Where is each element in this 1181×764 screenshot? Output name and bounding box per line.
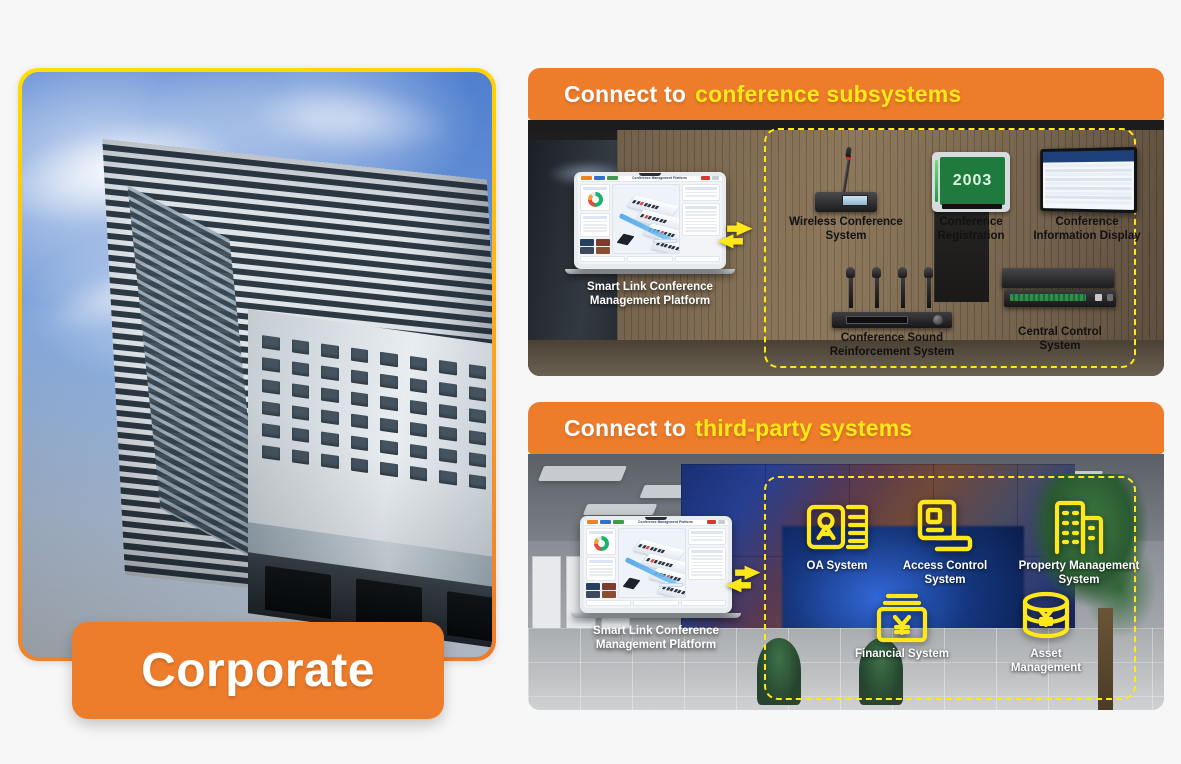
item-label-line1: Conference Sound [812,332,972,346]
camera-thumbnails [586,583,616,599]
topbar-chips [581,176,618,180]
wireless-microphones-icon [812,250,972,328]
item-asset-management[interactable]: Asset Management [978,582,1114,675]
platform-laptop-1: Conference Management Platform [574,172,726,308]
item-conference-sound-reinforcement-system[interactable]: Conference Sound Reinforcement System [812,250,972,359]
item-label-line2: Reinforcement System [812,346,972,360]
platform-caption-2: Smart Link Conference Management Platfor… [580,625,732,652]
screen-title: Conference Management Platform [632,176,687,180]
item-label-line1: Access Control [886,560,1004,574]
screen-main [584,526,728,600]
camera-thumbnails [580,239,610,255]
device-card [580,213,610,237]
screen-left-column [586,528,616,598]
office-buildings-icon [1004,490,1154,556]
hero-building-photo [22,72,492,657]
item-label-line1: Financial System [834,648,970,662]
item-label-line1: Wireless Conference [778,216,914,230]
screen-right-column [688,528,726,598]
seat-map-panel [612,184,680,254]
item-label-line2: System [778,230,914,244]
panel-third-party-systems: Connect to third-party systems [528,402,1164,710]
laptop-lid: Conference Management Platform [574,172,726,269]
stage-block [617,233,635,245]
platform-screen: Conference Management Platform [578,176,722,264]
topbar-chips [587,520,624,524]
item-label-line1: OA System [778,560,896,574]
id-card-document-icon [778,490,896,556]
panel-2-header: Connect to third-party systems [528,402,1164,454]
panel-1-header-highlight: conference subsystems [695,81,961,108]
platform-caption-1: Smart Link Conference Management Platfor… [574,281,726,308]
item-label-line2: Management [978,662,1114,676]
platform-caption-line1: Smart Link Conference [574,281,726,295]
status-card [586,528,616,555]
status-card [580,184,610,211]
meeting-info-card [688,528,726,545]
registration-tablet-icon: 2003 [916,142,1026,212]
panel-1-header-prefix: Connect to [564,81,686,108]
item-access-control-system[interactable]: Access Control System [886,490,1004,587]
item-label-line2: Registration [916,230,1026,244]
screen-left-column [580,184,610,254]
panel-2-header-prefix: Connect to [564,415,686,442]
panel-2-body: Conference Management Platform [528,454,1164,710]
bidirectional-arrow-icon [724,564,762,594]
corporate-badge-label: Corporate [141,643,375,698]
platform-caption-line1: Smart Link Conference [580,625,732,639]
item-label-line1: Asset [978,648,1114,662]
item-oa-system[interactable]: OA System [778,490,896,574]
donut-chart [588,192,603,207]
page-root: Corporate Connect to conference subsyste… [0,0,1181,764]
item-financial-system[interactable]: Financial System [834,582,970,662]
item-central-control-system[interactable]: Central Control System [980,256,1140,353]
laptop-lid: Conference Management Platform [580,516,732,613]
platform-caption-line2: Management Platform [574,295,726,309]
bidirectional-arrow-icon [716,220,754,250]
item-conference-registration[interactable]: 2003 Conference Registration [916,142,1026,243]
seat-map [613,185,679,253]
item-label-line1: Conference [916,216,1026,230]
item-label-line1: Central Control [980,326,1140,340]
screen-main [578,182,722,256]
item-label-line1: Conference [1024,216,1150,230]
seat-map-panel [618,528,686,598]
third-party-items: OA System [764,476,1136,700]
yen-coins-stack-icon [978,582,1114,644]
screen-right-column [682,184,720,254]
meeting-info-card [682,184,720,201]
panel-1-body: Conference Management Platform [528,120,1164,376]
subsystem-items: Wireless Conference System 2003 [764,128,1136,368]
webcam-notch [639,173,661,176]
platform-screen: Conference Management Platform [584,520,728,608]
seat-map [619,529,685,597]
item-label-line1: Property Management [1004,560,1154,574]
donut-chart [594,536,609,551]
device-card [586,557,616,581]
alert-list-card [682,203,720,236]
platform-caption-line2: Management Platform [580,639,732,653]
item-label-line2: Information Display [1024,230,1150,244]
hero-card: Corporate [18,68,496,661]
webcam-notch [645,517,667,520]
registration-room-number: 2003 [953,172,993,190]
yen-wallet-icon [834,582,970,644]
screen-action-button[interactable] [659,583,683,587]
panel-2-header-highlight: third-party systems [695,415,912,442]
corporate-badge: Corporate [72,622,444,719]
alert-list-card [688,547,726,580]
access-control-terminal-icon [886,490,1004,556]
panel-1-header: Connect to conference subsystems [528,68,1164,120]
desktop-microphone-icon [778,142,914,212]
laptop-base [565,269,735,274]
screen-footer [584,600,728,608]
screen-action-button[interactable] [653,239,677,243]
rack-controller-icon [980,256,1140,322]
panel-conference-subsystems: Connect to conference subsystems [528,68,1164,376]
item-property-management-system[interactable]: Property Management System [1004,490,1154,587]
screen-footer [578,256,722,264]
information-display-icon [1024,142,1150,212]
screen-title: Conference Management Platform [638,520,693,524]
photo-vignette [22,72,492,657]
stage-block [623,577,641,589]
laptop-base [571,613,741,618]
item-label-line2: System [980,340,1140,354]
platform-laptop-2: Conference Management Platform [580,516,732,652]
topbar-actions [701,176,719,180]
item-wireless-conference-system[interactable]: Wireless Conference System [778,142,914,243]
item-conference-information-display[interactable]: Conference Information Display [1024,142,1150,243]
topbar-actions [707,520,725,524]
